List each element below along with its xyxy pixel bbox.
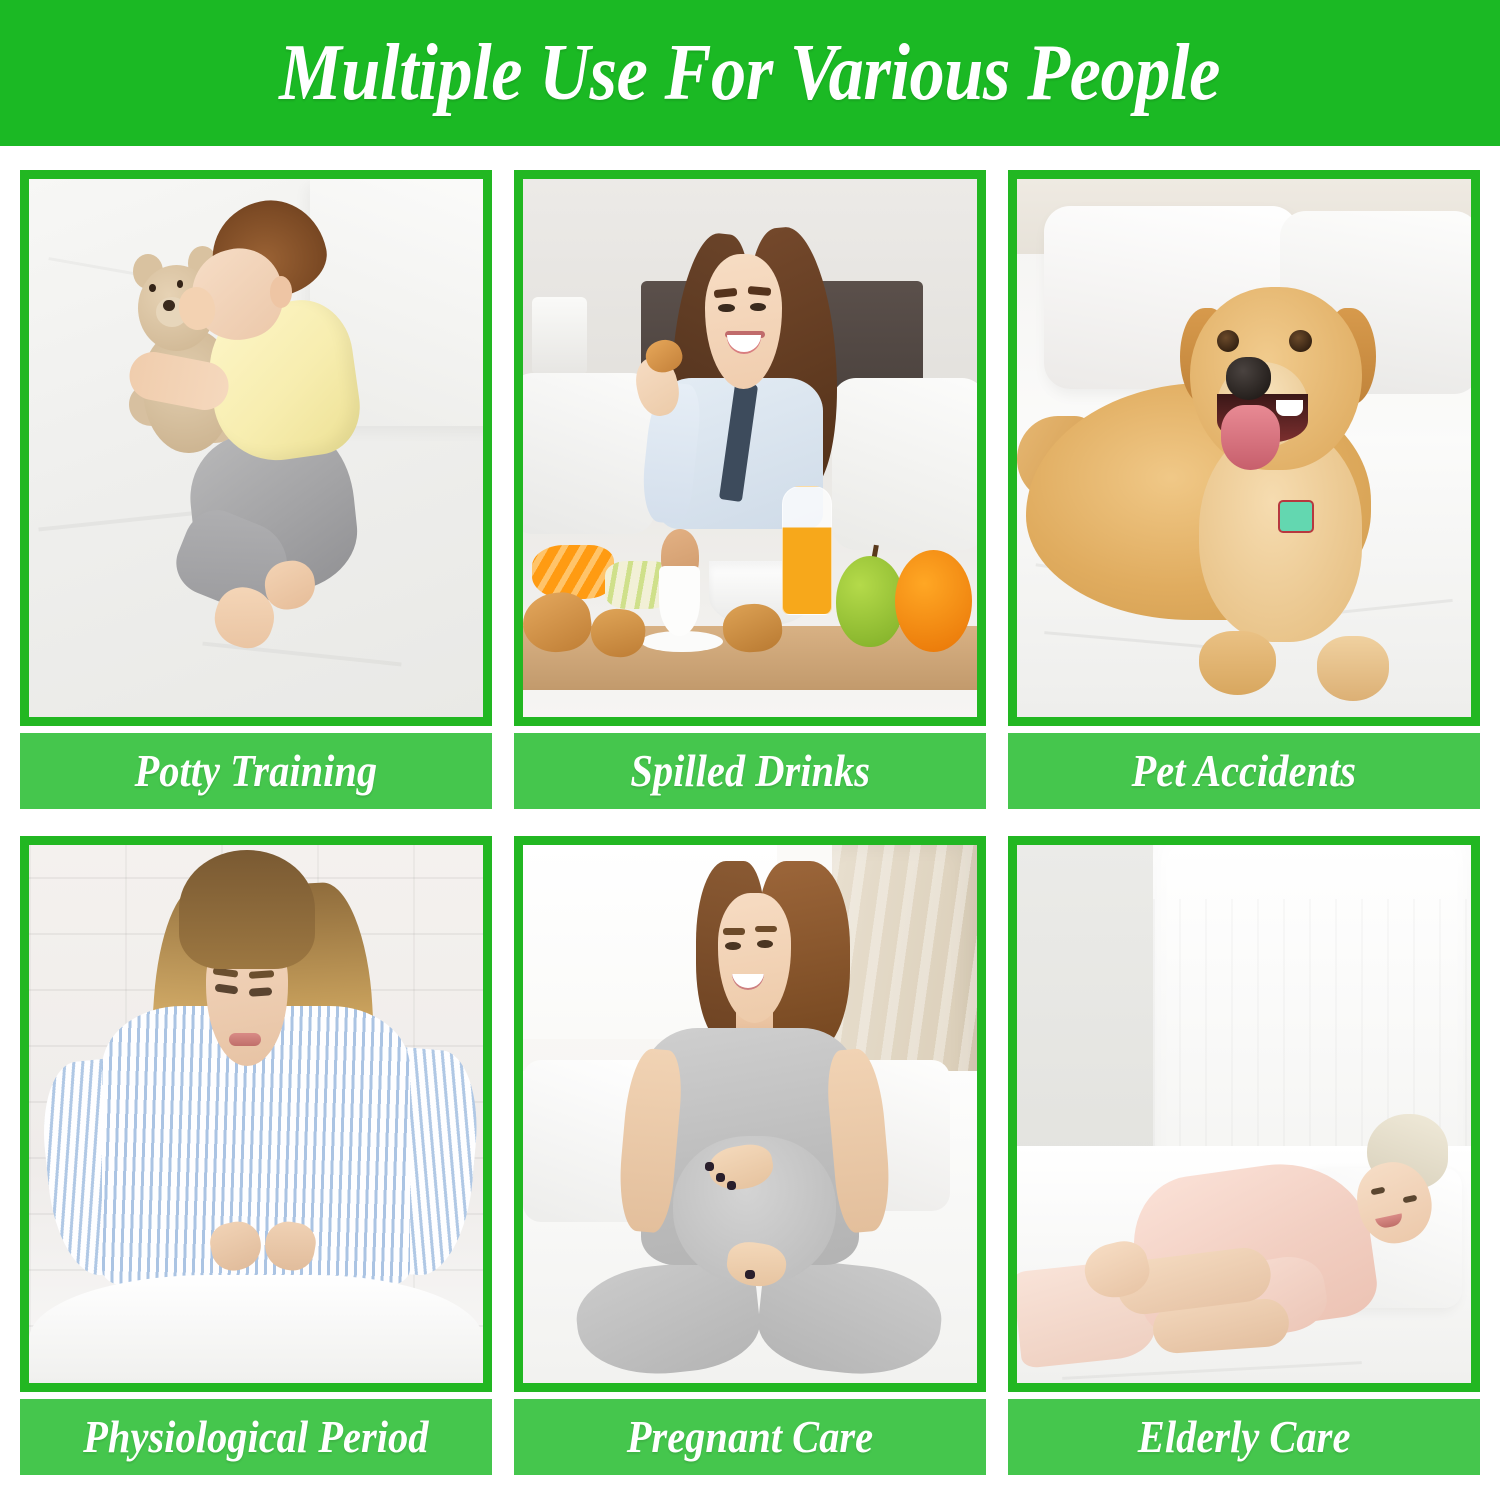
dog-collar-tag [1280,502,1312,532]
use-case-cell-physiological-period: Physiological Period [20,836,492,1475]
photo-frame-dog-on-bed [1008,170,1480,726]
caption-label: Elderly Care [1138,1415,1351,1460]
use-case-grid: Potty Training [20,170,1480,1475]
photo-sleeping-boy-with-teddy-bear [29,179,483,717]
header-banner: Multiple Use For Various People [0,0,1500,146]
caption-bar-pet-accidents: Pet Accidents [1008,733,1480,809]
photo-elderly-woman-resting [1017,845,1471,1383]
caption-bar-physiological-period: Physiological Period [20,1399,492,1475]
photo-woman-breakfast-in-bed [523,179,977,717]
caption-bar-elderly-care: Elderly Care [1008,1399,1480,1475]
photo-frame-breakfast-in-bed [514,170,986,726]
caption-bar-pregnant-care: Pregnant Care [514,1399,986,1475]
caption-label: Physiological Period [83,1415,428,1460]
caption-bar-potty-training: Potty Training [20,733,492,809]
use-case-cell-elderly-care: Elderly Care [1008,836,1480,1475]
use-case-cell-spilled-drinks: Spilled Drinks [514,170,986,809]
caption-bar-spilled-drinks: Spilled Drinks [514,733,986,809]
photo-pregnant-woman-on-bed [523,845,977,1383]
photo-frame-sleeping-boy [20,170,492,726]
photo-frame-pregnant-woman [514,836,986,1392]
photo-frame-elderly-woman [1008,836,1480,1392]
caption-label: Pregnant Care [627,1415,873,1460]
caption-label: Potty Training [135,749,378,794]
product-infographic: Multiple Use For Various People [0,0,1500,1500]
photo-golden-dog-on-bed [1017,179,1471,717]
caption-label: Pet Accidents [1132,749,1357,794]
photo-frame-woman-cramps [20,836,492,1392]
use-case-cell-pregnant-care: Pregnant Care [514,836,986,1475]
use-case-cell-pet-accidents: Pet Accidents [1008,170,1480,809]
photo-woman-with-cramps [29,845,483,1383]
use-case-cell-potty-training: Potty Training [20,170,492,809]
page-title: Multiple Use For Various People [280,33,1221,113]
caption-label: Spilled Drinks [630,749,870,794]
